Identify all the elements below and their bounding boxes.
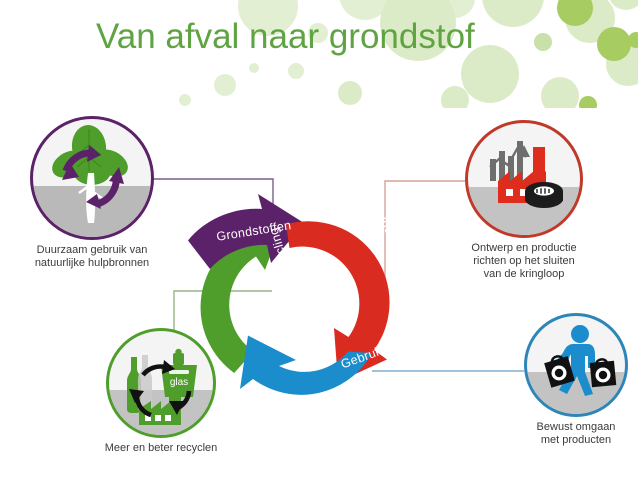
recycling-bin-icon: glas (109, 331, 213, 435)
cycle-segment-productie (286, 221, 390, 382)
node-bewust-omgaan[interactable]: Bewust omgaan met producten (524, 313, 628, 417)
factory-icon (468, 123, 580, 235)
node-disc-meer-beter-recyclen: glas (106, 328, 216, 438)
node-label-bewust-omgaan: Bewust omgaan met producten (508, 421, 638, 447)
node-natuurlijke-hulpbronnen[interactable]: Duurzaam gebruik van natuurlijke hulpbro… (30, 116, 154, 240)
plant-sprout-icon (33, 119, 151, 237)
node-disc-natuurlijke-hulpbronnen (30, 116, 154, 240)
node-ontwerp-productie[interactable]: Ontwerp en productie richten op het slui… (465, 120, 583, 238)
node-meer-beter-recyclen[interactable]: glas (106, 328, 216, 438)
node-label-meer-beter-recyclen: Meer en beter recyclen (76, 442, 246, 455)
node-label-ontwerp-productie: Ontwerp en productie richten op het slui… (449, 242, 599, 281)
page-title: Van afval naar grondstof (96, 14, 475, 60)
shopper-icon (527, 316, 625, 414)
diagram-container: Grondstoffen Productie Gebruik Recycling (0, 108, 638, 479)
recycling-bin-icon-text: glas (170, 377, 188, 388)
node-disc-bewust-omgaan (524, 313, 628, 417)
node-disc-ontwerp-productie (465, 120, 583, 238)
cycle-arrows-svg (188, 190, 418, 420)
slide-canvas: Van afval naar grondstof (0, 0, 638, 479)
node-label-natuurlijke-hulpbronnen: Duurzaam gebruik van natuurlijke hulpbro… (8, 244, 176, 270)
